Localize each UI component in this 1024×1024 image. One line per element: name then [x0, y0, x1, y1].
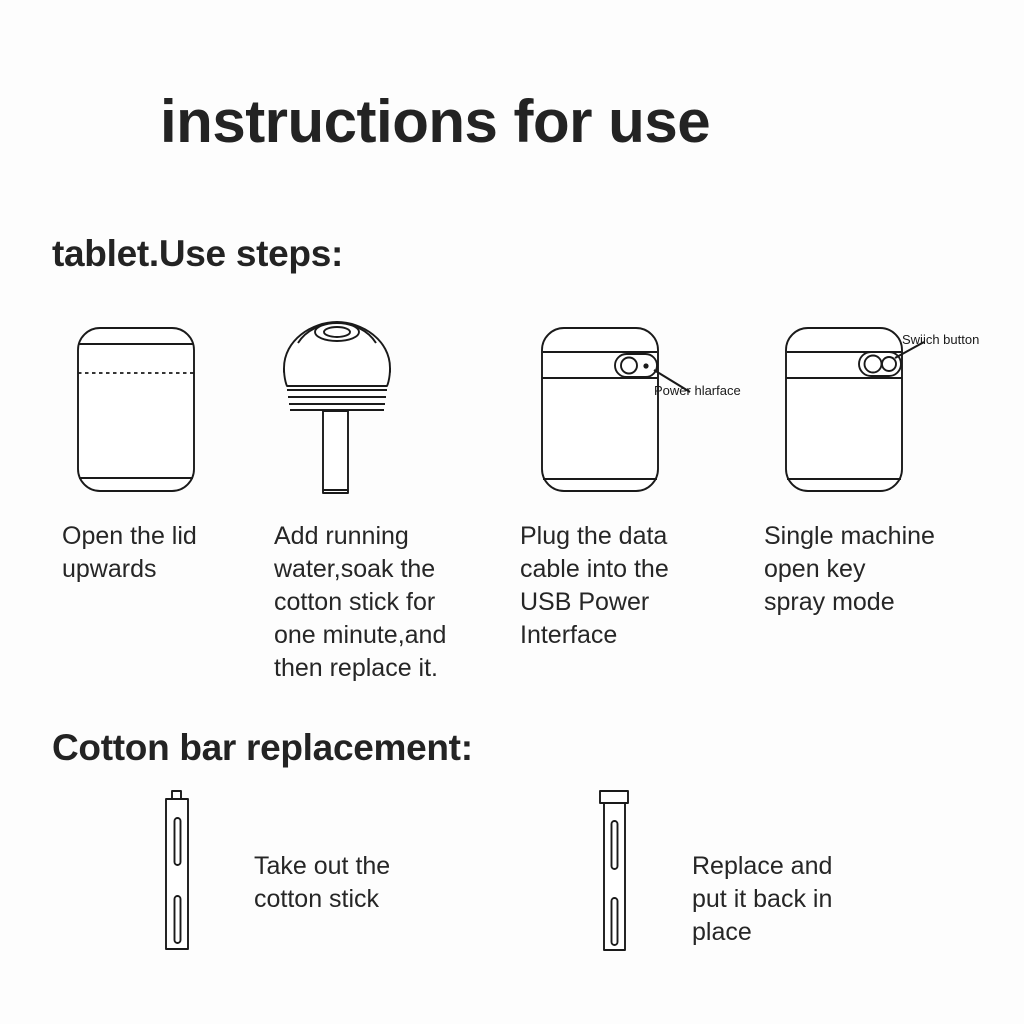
cotton-step-caption: Take out the cotton stick — [254, 850, 390, 916]
step-add-water-soak: Add running water,soak the cotton stick … — [262, 310, 507, 685]
step-caption: Plug the data cable into the USB Power I… — [520, 520, 753, 652]
step-caption: Open the lid upwards — [62, 520, 293, 586]
step-single-machine-spray: Swiich button Single machine open key sp… — [752, 310, 997, 619]
section-heading-use-steps: tablet.Use steps: — [52, 233, 343, 275]
illustration-humidifier-body-switch: Swiich button — [752, 310, 997, 505]
cotton-step-caption: Replace and put it back in place — [692, 850, 832, 949]
use-steps-row: Open the lid upwards — [0, 310, 1024, 700]
cotton-step-replace: Replace and put it back in place — [596, 788, 832, 968]
illustration-humidifier-body-power-port: Power hlarface — [508, 310, 753, 505]
step-open-lid: Open the lid upwards — [48, 310, 293, 586]
cotton-replacement-row: Take out the cotton stick Replace and pu… — [0, 788, 1024, 998]
step-caption: Single machine open key spray mode — [764, 520, 997, 619]
step-caption: Add running water,soak the cotton stick … — [274, 520, 507, 685]
callout-power-interface: Power hlarface — [654, 383, 741, 398]
instruction-sheet: instructions for use tablet.Use steps: O… — [0, 0, 1024, 1024]
illustration-cotton-stick-capped — [596, 788, 642, 968]
step-plug-data-cable: Power hlarface Plug the data cable into … — [508, 310, 753, 652]
callout-switch-button: Swiich button — [902, 332, 979, 347]
illustration-cotton-stick-plain — [160, 788, 206, 968]
page-title: instructions for use — [160, 92, 710, 152]
section-heading-cotton-bar-replacement: Cotton bar replacement: — [52, 727, 473, 769]
cotton-step-take-out: Take out the cotton stick — [160, 788, 390, 968]
illustration-lid-with-cotton-stick — [262, 310, 507, 505]
illustration-humidifier-body-closed — [48, 310, 293, 505]
